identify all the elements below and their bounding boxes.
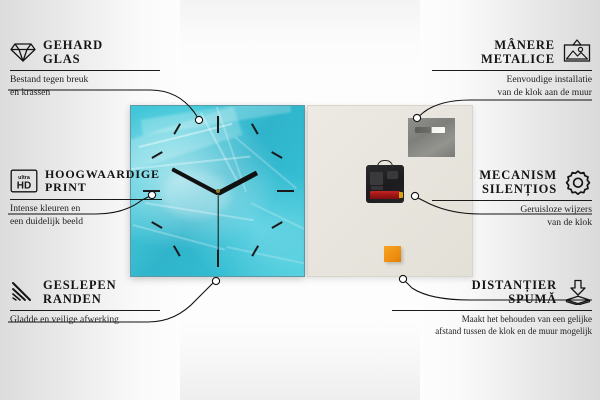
infographic-stage: GEHARD GLAS Bestand tegen breuk en krass…: [0, 0, 600, 400]
feature-rule: [10, 70, 160, 71]
feature-mecanism-silentios: MECANISM SILENȚIOS Geruisloze wijzers va…: [432, 168, 592, 229]
feature-rule: [432, 70, 592, 71]
feature-rule: [10, 199, 162, 200]
feature-title-line2: PRINT: [45, 181, 160, 194]
gear-icon: [564, 169, 592, 196]
picture-hanger-icon: [562, 39, 592, 65]
feature-title-line2: SPUMĂ: [472, 292, 557, 306]
feature-manere-metalice: MÂNERE METALICE Eenvoudige installatie v…: [432, 38, 592, 99]
feature-sub-line1: Bestand tegen breuk: [10, 74, 160, 87]
feature-title-line1: GEHARD: [43, 38, 103, 52]
feature-hoogwaardige-print: ultra HD HOOGWAARDIGE PRINT Intense kleu…: [10, 168, 162, 228]
feature-sub-line1: Maakt het behouden van een gelijke: [392, 314, 592, 326]
feature-sub-line1: Intense kleuren en: [10, 203, 162, 216]
feature-distantier-spuma: DISTANȚIER SPUMĂ Maakt het behouden van …: [392, 278, 592, 338]
feature-rule: [10, 310, 160, 311]
feature-sub-line1: Eenvoudige installatie: [432, 74, 592, 87]
feature-sub-line2: van de klok: [432, 217, 592, 230]
feature-title-line2: RANDEN: [43, 292, 117, 306]
feature-title-line2: GLAS: [43, 52, 103, 66]
feature-sub-line1: Geruisloze wijzers: [432, 204, 592, 217]
feature-title-line1: HOOGWAARDIGE: [45, 168, 160, 181]
feature-geslepen-randen: GESLEPEN RANDEN Gladde en veilige afwerk…: [10, 278, 160, 327]
ultra-hd-icon: ultra HD: [10, 169, 38, 193]
feature-title-line1: GESLEPEN: [43, 278, 117, 292]
feature-gehard-glas: GEHARD GLAS Bestand tegen breuk en krass…: [10, 38, 160, 99]
feature-title-line1: DISTANȚIER: [472, 278, 557, 292]
feature-title-line1: MÂNERE: [481, 38, 555, 52]
feature-sub-line2: van de klok aan de muur: [432, 87, 592, 100]
feature-rule: [392, 310, 592, 311]
feature-rule: [432, 200, 592, 201]
feature-title-line1: MECANISM: [479, 168, 557, 182]
spacer-press-icon: [564, 279, 592, 305]
feature-sub-line2: een duidelijk beeld: [10, 216, 162, 229]
svg-text:HD: HD: [17, 181, 31, 192]
feature-sub-line2: en krassen: [10, 87, 160, 100]
feature-title-line2: SILENȚIOS: [479, 182, 557, 196]
feature-sub-line2: afstand tussen de klok en de muur mogeli…: [392, 326, 592, 338]
feature-sub-line1: Gladde en veilige afwerking: [10, 314, 160, 327]
diamond-icon: [10, 41, 36, 63]
feature-title-line2: METALICE: [481, 52, 555, 66]
beveled-edge-icon: [10, 281, 36, 303]
